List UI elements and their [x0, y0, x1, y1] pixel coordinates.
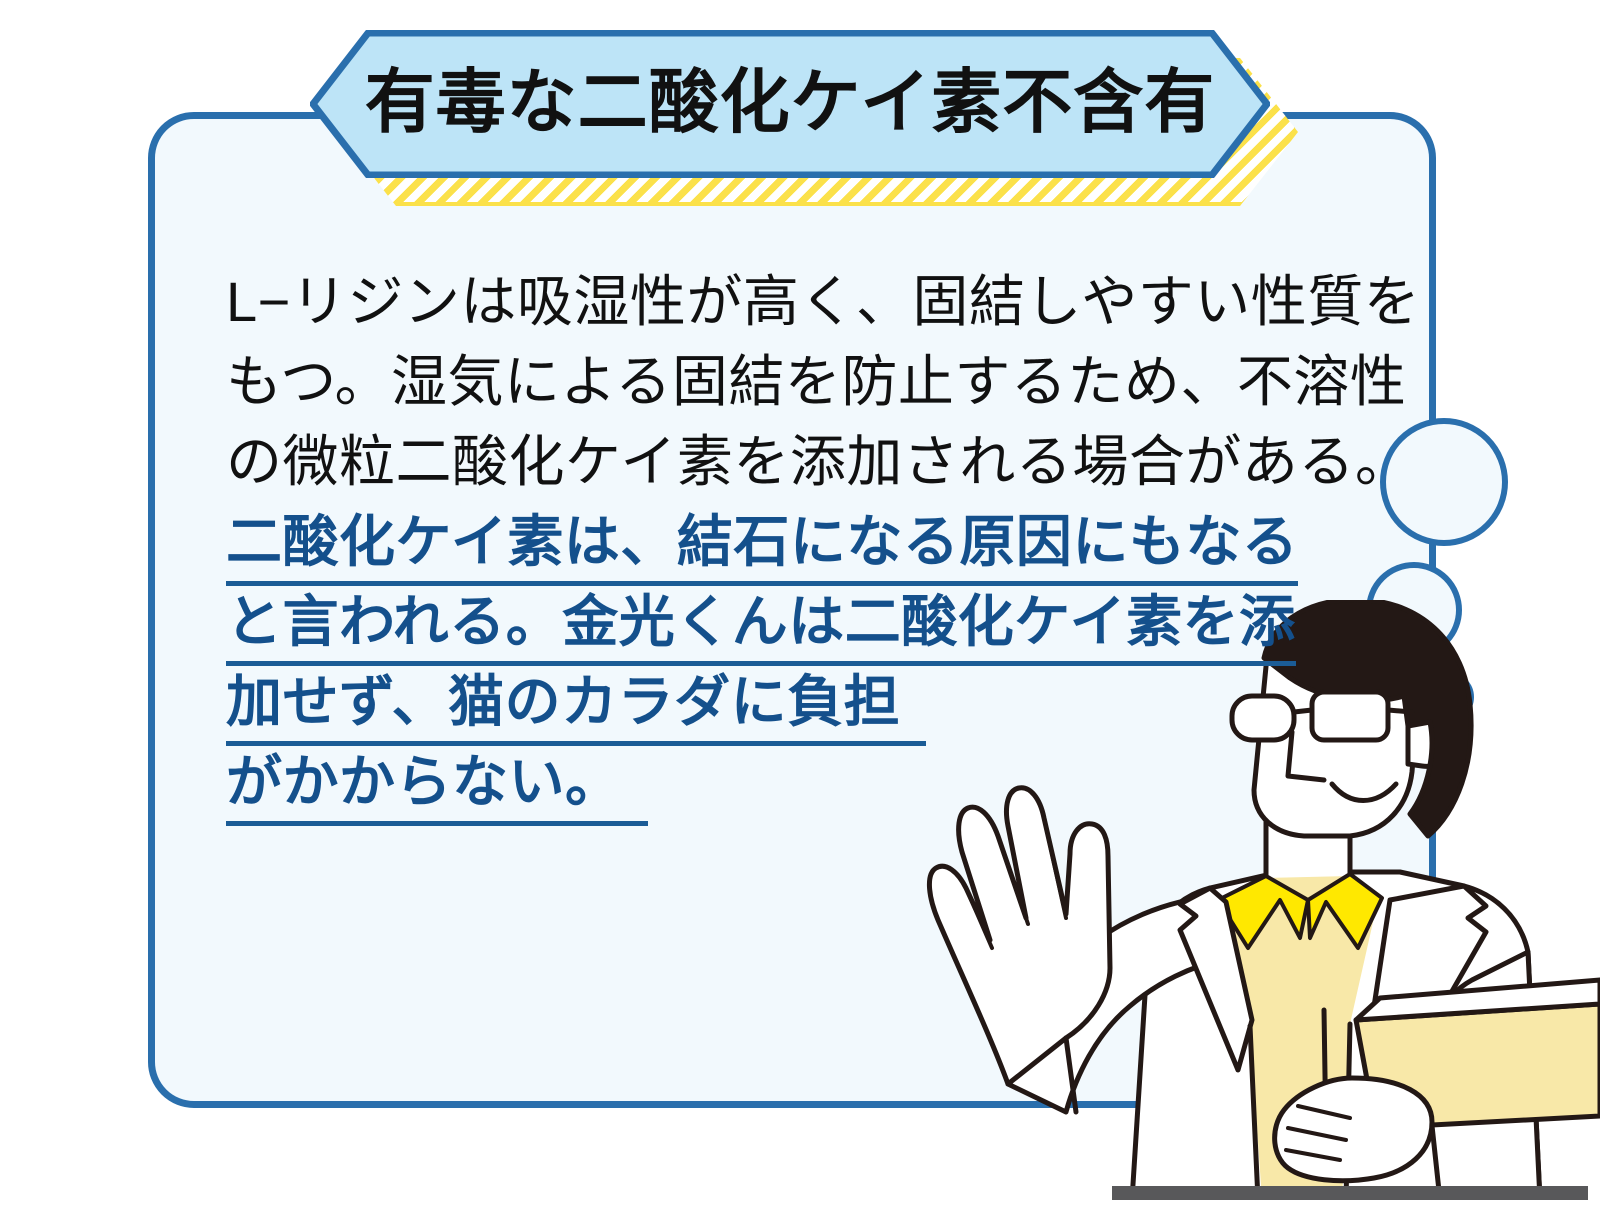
body-copy: L−リジンは吸湿性が高く、固結しやすい性質を もつ。湿気による固結を防止するため… [226, 262, 1346, 822]
banner-plate: 有毒な二酸化ケイ素不含有 [310, 30, 1270, 178]
body-line-7: がかからない。 [226, 742, 1346, 822]
page-title: 有毒な二酸化ケイ素不含有 [310, 30, 1270, 178]
body-line-7-text: がかからない。 [226, 746, 648, 826]
body-line-3: の微粒二酸化ケイ素を添加される場合がある。 [226, 422, 1346, 502]
body-line-2: もつ。湿気による固結を防止するため、不溶性 [226, 342, 1346, 422]
body-line-5-text: と言われる。金光くんは二酸化ケイ素を添 [226, 586, 1296, 666]
body-line-5: と言われる。金光くんは二酸化ケイ素を添 [226, 582, 1346, 662]
body-line-4: 二酸化ケイ素は、結石になる原因にもなる [226, 502, 1346, 582]
body-line-6: 加せず、猫のカラダに負担 [226, 662, 1346, 742]
banner-header: 有毒な二酸化ケイ素不含有 [310, 30, 1280, 215]
body-line-6-text: 加せず、猫のカラダに負担 [226, 666, 926, 746]
body-line-1: L−リジンは吸湿性が高く、固結しやすい性質を [226, 262, 1346, 342]
floor-bar [1112, 1186, 1588, 1200]
glasses-temple [1388, 710, 1412, 712]
body-line-4-text: 二酸化ケイ素は、結石になる原因にもなる [226, 506, 1298, 586]
